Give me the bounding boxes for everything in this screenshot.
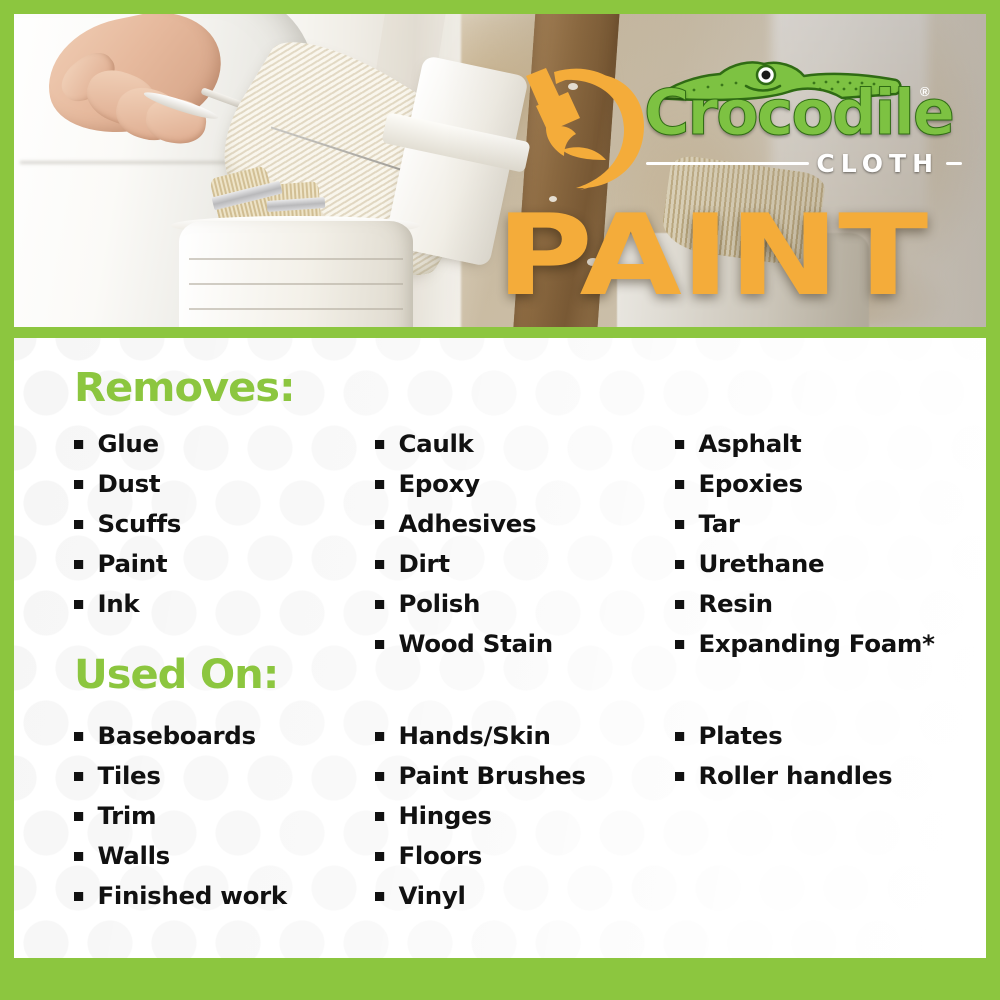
list-item: Scuffs bbox=[74, 504, 381, 544]
square-bullet-icon bbox=[675, 640, 684, 649]
brand-name-text: Crocodile bbox=[644, 82, 953, 144]
list-item: Paint bbox=[74, 544, 381, 584]
hero-photo: Crocodile ® CLOTH PAINT bbox=[14, 14, 986, 327]
features-content: Removes: GlueDustScuffsPaintInkCaulkEpox… bbox=[14, 338, 986, 958]
list-item-label: Scuffs bbox=[97, 510, 181, 538]
list-item-label: Urethane bbox=[698, 550, 824, 578]
removes-column-3: AsphaltEpoxiesTarUrethaneResinExpanding … bbox=[675, 424, 974, 664]
list-item: Baseboards bbox=[74, 716, 381, 756]
list-item: Caulk bbox=[375, 424, 680, 464]
list-item: Vinyl bbox=[375, 876, 680, 916]
product-title: PAINT bbox=[496, 200, 927, 312]
divider-rule-right bbox=[946, 162, 962, 165]
list-item-label: Wood Stain bbox=[399, 630, 553, 658]
removes-column-2: CaulkEpoxyAdhesivesDirtPolishWood Stain bbox=[375, 424, 674, 664]
list-item-label: Hinges bbox=[399, 802, 492, 830]
square-bullet-icon bbox=[675, 772, 684, 781]
square-bullet-icon bbox=[675, 732, 684, 741]
list-item-label: Expanding Foam* bbox=[698, 630, 934, 658]
square-bullet-icon bbox=[74, 520, 83, 529]
square-bullet-icon bbox=[74, 560, 83, 569]
square-bullet-icon bbox=[74, 600, 83, 609]
square-bullet-icon bbox=[74, 480, 83, 489]
list-item-label: Epoxies bbox=[698, 470, 802, 498]
bucket-ring bbox=[189, 283, 403, 285]
list-item-label: Plates bbox=[698, 722, 782, 750]
list-item-label: Glue bbox=[97, 430, 158, 458]
list-item: Walls bbox=[74, 836, 381, 876]
paint-bucket bbox=[179, 221, 412, 327]
square-bullet-icon bbox=[375, 852, 384, 861]
square-bullet-icon bbox=[375, 772, 384, 781]
list-item: Trim bbox=[74, 796, 381, 836]
list-item: Expanding Foam* bbox=[675, 624, 980, 664]
list-item-label: Walls bbox=[97, 842, 169, 870]
list-item-label: Tiles bbox=[97, 762, 160, 790]
list-item: Plates bbox=[675, 716, 980, 756]
square-bullet-icon bbox=[375, 732, 384, 741]
square-bullet-icon bbox=[375, 640, 384, 649]
list-item-label: Polish bbox=[399, 590, 481, 618]
square-bullet-icon bbox=[375, 520, 384, 529]
list-item: Dirt bbox=[375, 544, 680, 584]
list-item: Resin bbox=[675, 584, 980, 624]
list-item-label: Paint bbox=[97, 550, 167, 578]
list-item-label: Adhesives bbox=[399, 510, 537, 538]
list-item: Finished work bbox=[74, 876, 381, 916]
list-item-label: Resin bbox=[698, 590, 772, 618]
list-item: Dust bbox=[74, 464, 381, 504]
square-bullet-icon bbox=[675, 520, 684, 529]
list-item-label: Asphalt bbox=[698, 430, 801, 458]
list-item: Floors bbox=[375, 836, 680, 876]
paintbrush-swoosh-icon bbox=[502, 64, 652, 194]
used-on-column-3: PlatesRoller handles bbox=[675, 716, 974, 916]
list-item-label: Vinyl bbox=[399, 882, 466, 910]
square-bullet-icon bbox=[375, 600, 384, 609]
square-bullet-icon bbox=[375, 480, 384, 489]
square-bullet-icon bbox=[74, 732, 83, 741]
brand-subtitle-row: CLOTH bbox=[646, 154, 962, 172]
divider-rule-left bbox=[646, 162, 809, 165]
square-bullet-icon bbox=[375, 812, 384, 821]
list-item: Epoxy bbox=[375, 464, 680, 504]
list-item-label: Epoxy bbox=[399, 470, 480, 498]
square-bullet-icon bbox=[375, 440, 384, 449]
list-item: Hands/Skin bbox=[375, 716, 680, 756]
registered-trademark-mark: ® bbox=[920, 84, 930, 99]
bucket-ring bbox=[189, 258, 403, 260]
list-item-label: Dirt bbox=[399, 550, 450, 578]
list-item-label: Paint Brushes bbox=[399, 762, 586, 790]
brand-subtitle-text: CLOTH bbox=[816, 149, 939, 178]
square-bullet-icon bbox=[675, 600, 684, 609]
square-bullet-icon bbox=[675, 560, 684, 569]
green-divider-bar bbox=[0, 327, 1000, 338]
list-item-label: Finished work bbox=[97, 882, 286, 910]
list-item-label: Roller handles bbox=[698, 762, 892, 790]
used-on-columns: BaseboardsTilesTrimWallsFinished workHan… bbox=[74, 716, 974, 916]
list-item: Paint Brushes bbox=[375, 756, 680, 796]
list-item-label: Dust bbox=[97, 470, 160, 498]
removes-section-title: Removes: bbox=[74, 368, 295, 408]
list-item-label: Trim bbox=[97, 802, 156, 830]
list-item-label: Floors bbox=[399, 842, 483, 870]
square-bullet-icon bbox=[74, 772, 83, 781]
brand-logo-lockup: Crocodile ® CLOTH PAINT bbox=[492, 60, 952, 310]
product-info-poster: Crocodile ® CLOTH PAINT Removes: GlueDus… bbox=[0, 0, 1000, 1000]
square-bullet-icon bbox=[74, 852, 83, 861]
square-bullet-icon bbox=[675, 480, 684, 489]
square-bullet-icon bbox=[74, 892, 83, 901]
list-item-label: Hands/Skin bbox=[399, 722, 551, 750]
list-item: Hinges bbox=[375, 796, 680, 836]
square-bullet-icon bbox=[675, 440, 684, 449]
used-on-column-1: BaseboardsTilesTrimWallsFinished work bbox=[74, 716, 375, 916]
list-item: Ink bbox=[74, 584, 381, 624]
list-item: Tiles bbox=[74, 756, 381, 796]
used-on-column-2: Hands/SkinPaint BrushesHingesFloorsVinyl bbox=[375, 716, 674, 916]
square-bullet-icon bbox=[375, 892, 384, 901]
used-on-section-title: Used On: bbox=[74, 655, 278, 695]
list-item: Glue bbox=[74, 424, 381, 464]
square-bullet-icon bbox=[375, 560, 384, 569]
list-item: Roller handles bbox=[675, 756, 980, 796]
removes-columns: GlueDustScuffsPaintInkCaulkEpoxyAdhesive… bbox=[74, 424, 974, 664]
square-bullet-icon bbox=[74, 440, 83, 449]
list-item: Urethane bbox=[675, 544, 980, 584]
list-item-label: Tar bbox=[698, 510, 739, 538]
list-item-label: Baseboards bbox=[97, 722, 255, 750]
list-item: Polish bbox=[375, 584, 680, 624]
list-item: Epoxies bbox=[675, 464, 980, 504]
features-panel: Removes: GlueDustScuffsPaintInkCaulkEpox… bbox=[14, 338, 986, 958]
list-item: Adhesives bbox=[375, 504, 680, 544]
list-item: Tar bbox=[675, 504, 980, 544]
list-item: Wood Stain bbox=[375, 624, 680, 664]
list-item-label: Caulk bbox=[399, 430, 474, 458]
square-bullet-icon bbox=[74, 812, 83, 821]
list-item-label: Ink bbox=[97, 590, 139, 618]
removes-column-1: GlueDustScuffsPaintInk bbox=[74, 424, 375, 664]
list-item: Asphalt bbox=[675, 424, 980, 464]
bucket-ring bbox=[189, 308, 403, 310]
